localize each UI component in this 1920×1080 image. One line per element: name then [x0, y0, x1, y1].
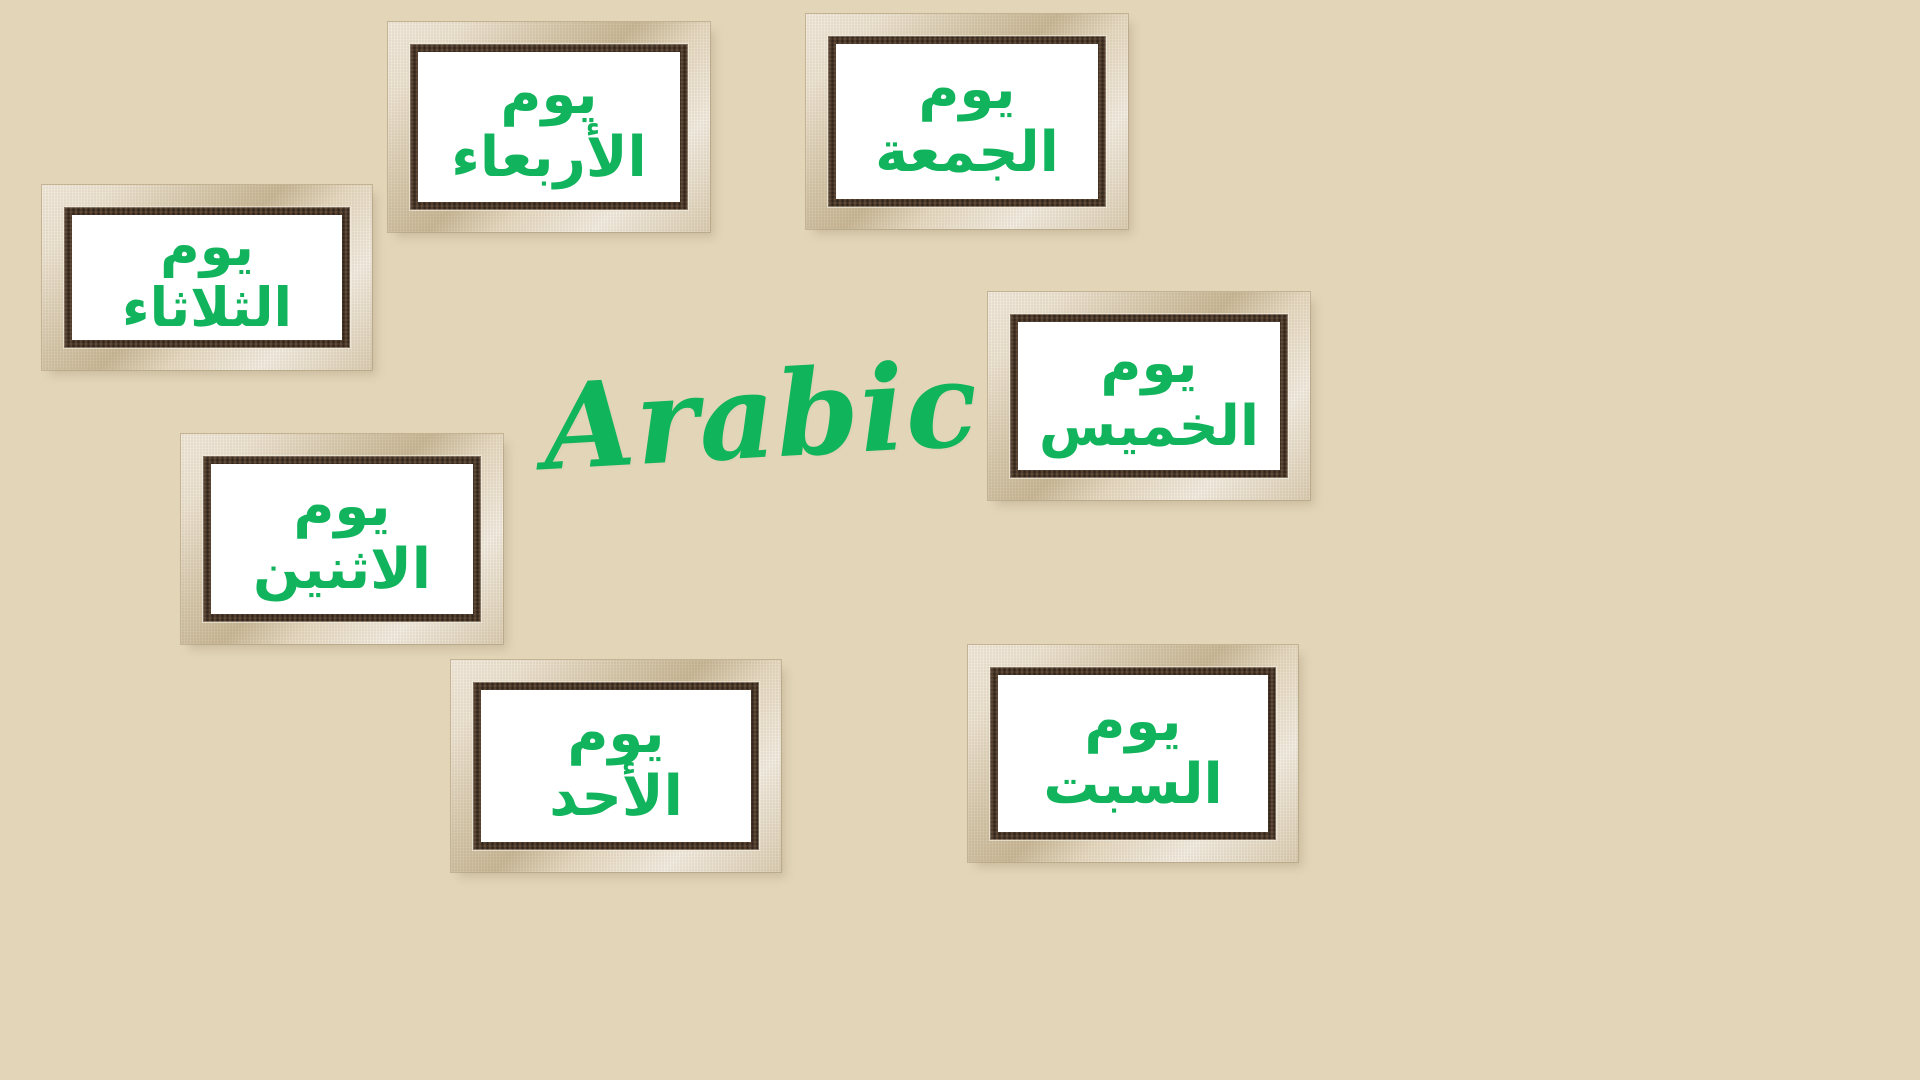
frame-canvas: يوم السبت	[998, 675, 1268, 832]
picture-frame-saturday[interactable]: يوم السبت	[968, 645, 1298, 862]
frame-canvas: يوم الخميس	[1018, 322, 1280, 470]
picture-frame-thursday[interactable]: يوم الخميس	[988, 292, 1310, 500]
picture-frame-sunday[interactable]: يوم الأحد	[451, 660, 781, 872]
frame-canvas: يوم الأربعاء	[418, 52, 680, 202]
frame-ornament-band: يوم الاثنين	[203, 456, 481, 622]
day-label-friday: يوم الجمعة	[867, 59, 1067, 184]
day-label-saturday: يوم السبت	[1035, 691, 1230, 816]
day-label-tuesday: يوم الثلاثاء	[114, 217, 300, 338]
frame-canvas: يوم الجمعة	[836, 44, 1098, 199]
frame-ornament-band: يوم الجمعة	[828, 36, 1106, 207]
picture-frame-friday[interactable]: يوم الجمعة	[806, 14, 1128, 229]
day-label-thursday: يوم الخميس	[1031, 333, 1267, 458]
day-label-monday: يوم الاثنين	[245, 476, 439, 601]
frame-ornament-band: يوم الأربعاء	[410, 44, 688, 210]
frame-ornament-band: يوم السبت	[990, 667, 1276, 840]
frame-ornament-band: يوم الثلاثاء	[64, 207, 350, 348]
frame-canvas: يوم الأحد	[481, 690, 751, 842]
picture-frame-tuesday[interactable]: يوم الثلاثاء	[42, 185, 372, 370]
frame-canvas: يوم الاثنين	[211, 464, 473, 614]
slide-canvas: يوم الثلاثاءيوم الأربعاءيوم الجمعةيوم ال…	[0, 0, 1920, 1080]
day-label-sunday: يوم الأحد	[541, 703, 691, 828]
slide-title: Arabic	[540, 345, 981, 487]
frame-canvas: يوم الثلاثاء	[72, 215, 342, 340]
frame-ornament-band: يوم الأحد	[473, 682, 759, 850]
picture-frame-wednesday[interactable]: يوم الأربعاء	[388, 22, 710, 232]
picture-frame-monday[interactable]: يوم الاثنين	[181, 434, 503, 644]
frame-ornament-band: يوم الخميس	[1010, 314, 1288, 478]
day-label-wednesday: يوم الأربعاء	[443, 64, 654, 189]
